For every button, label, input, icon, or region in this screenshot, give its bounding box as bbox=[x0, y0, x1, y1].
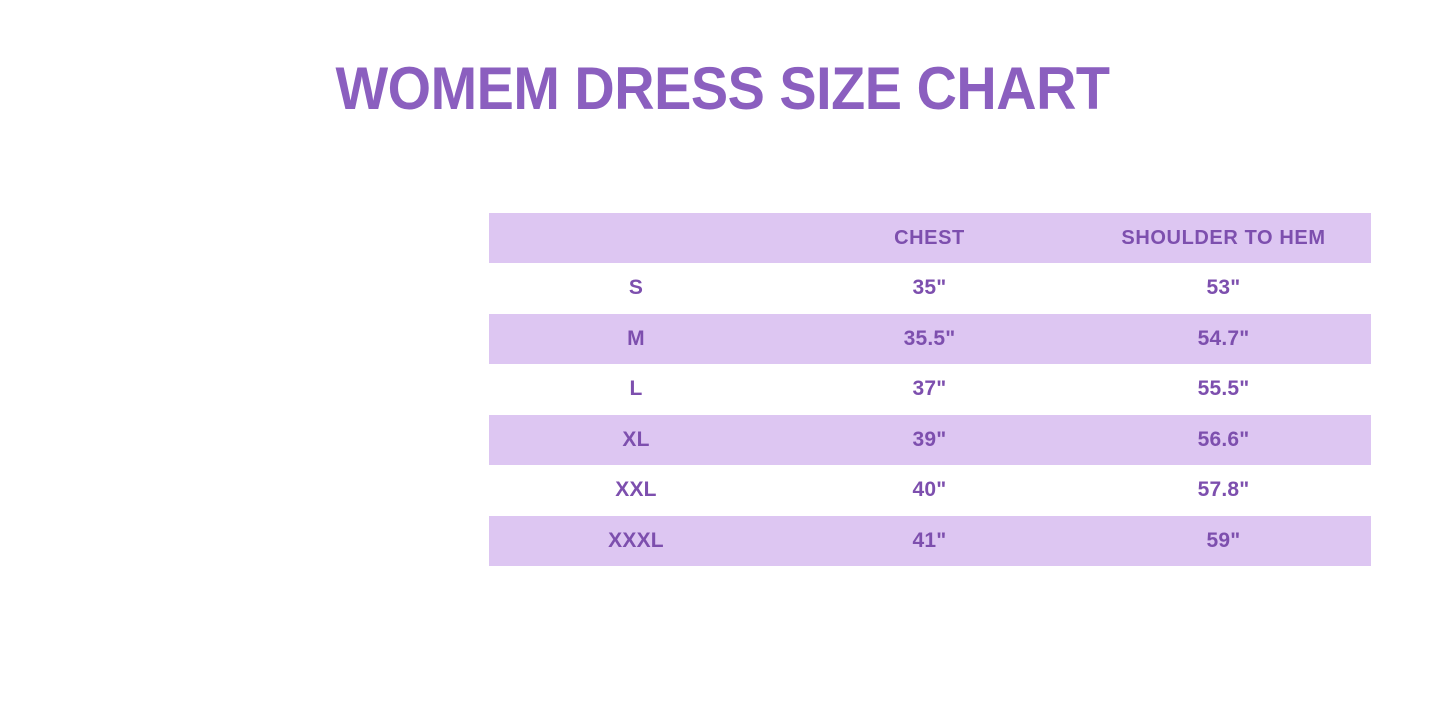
table-row: L 37" 55.5" bbox=[489, 364, 1371, 415]
cell-size: M bbox=[489, 314, 783, 365]
size-chart-container: CHEST SHOULDER TO HEM S 35" 53" M 35.5" … bbox=[489, 213, 1371, 566]
cell-size: XXXL bbox=[489, 516, 783, 567]
column-header-shoulder-to-hem: SHOULDER TO HEM bbox=[1076, 213, 1371, 263]
table-row: XXXL 41" 59" bbox=[489, 516, 1371, 567]
cell-shoulder-to-hem: 56.6" bbox=[1076, 415, 1371, 466]
table-row: XXL 40" 57.8" bbox=[489, 465, 1371, 516]
cell-shoulder-to-hem: 57.8" bbox=[1076, 465, 1371, 516]
column-header-chest: CHEST bbox=[783, 213, 1076, 263]
cell-chest: 41" bbox=[783, 516, 1076, 567]
cell-shoulder-to-hem: 53" bbox=[1076, 263, 1371, 314]
size-chart-table: CHEST SHOULDER TO HEM S 35" 53" M 35.5" … bbox=[489, 213, 1371, 566]
cell-shoulder-to-hem: 54.7" bbox=[1076, 314, 1371, 365]
cell-chest: 39" bbox=[783, 415, 1076, 466]
cell-size: L bbox=[489, 364, 783, 415]
column-header-size bbox=[489, 213, 783, 263]
cell-chest: 35.5" bbox=[783, 314, 1076, 365]
table-row: S 35" 53" bbox=[489, 263, 1371, 314]
cell-shoulder-to-hem: 59" bbox=[1076, 516, 1371, 567]
cell-chest: 37" bbox=[783, 364, 1076, 415]
cell-size: S bbox=[489, 263, 783, 314]
table-header-row: CHEST SHOULDER TO HEM bbox=[489, 213, 1371, 263]
table-row: XL 39" 56.6" bbox=[489, 415, 1371, 466]
page-title: WOMEM DRESS SIZE CHART bbox=[51, 56, 1395, 122]
cell-size: XXL bbox=[489, 465, 783, 516]
cell-chest: 35" bbox=[783, 263, 1076, 314]
cell-size: XL bbox=[489, 415, 783, 466]
cell-chest: 40" bbox=[783, 465, 1076, 516]
cell-shoulder-to-hem: 55.5" bbox=[1076, 364, 1371, 415]
table-row: M 35.5" 54.7" bbox=[489, 314, 1371, 365]
